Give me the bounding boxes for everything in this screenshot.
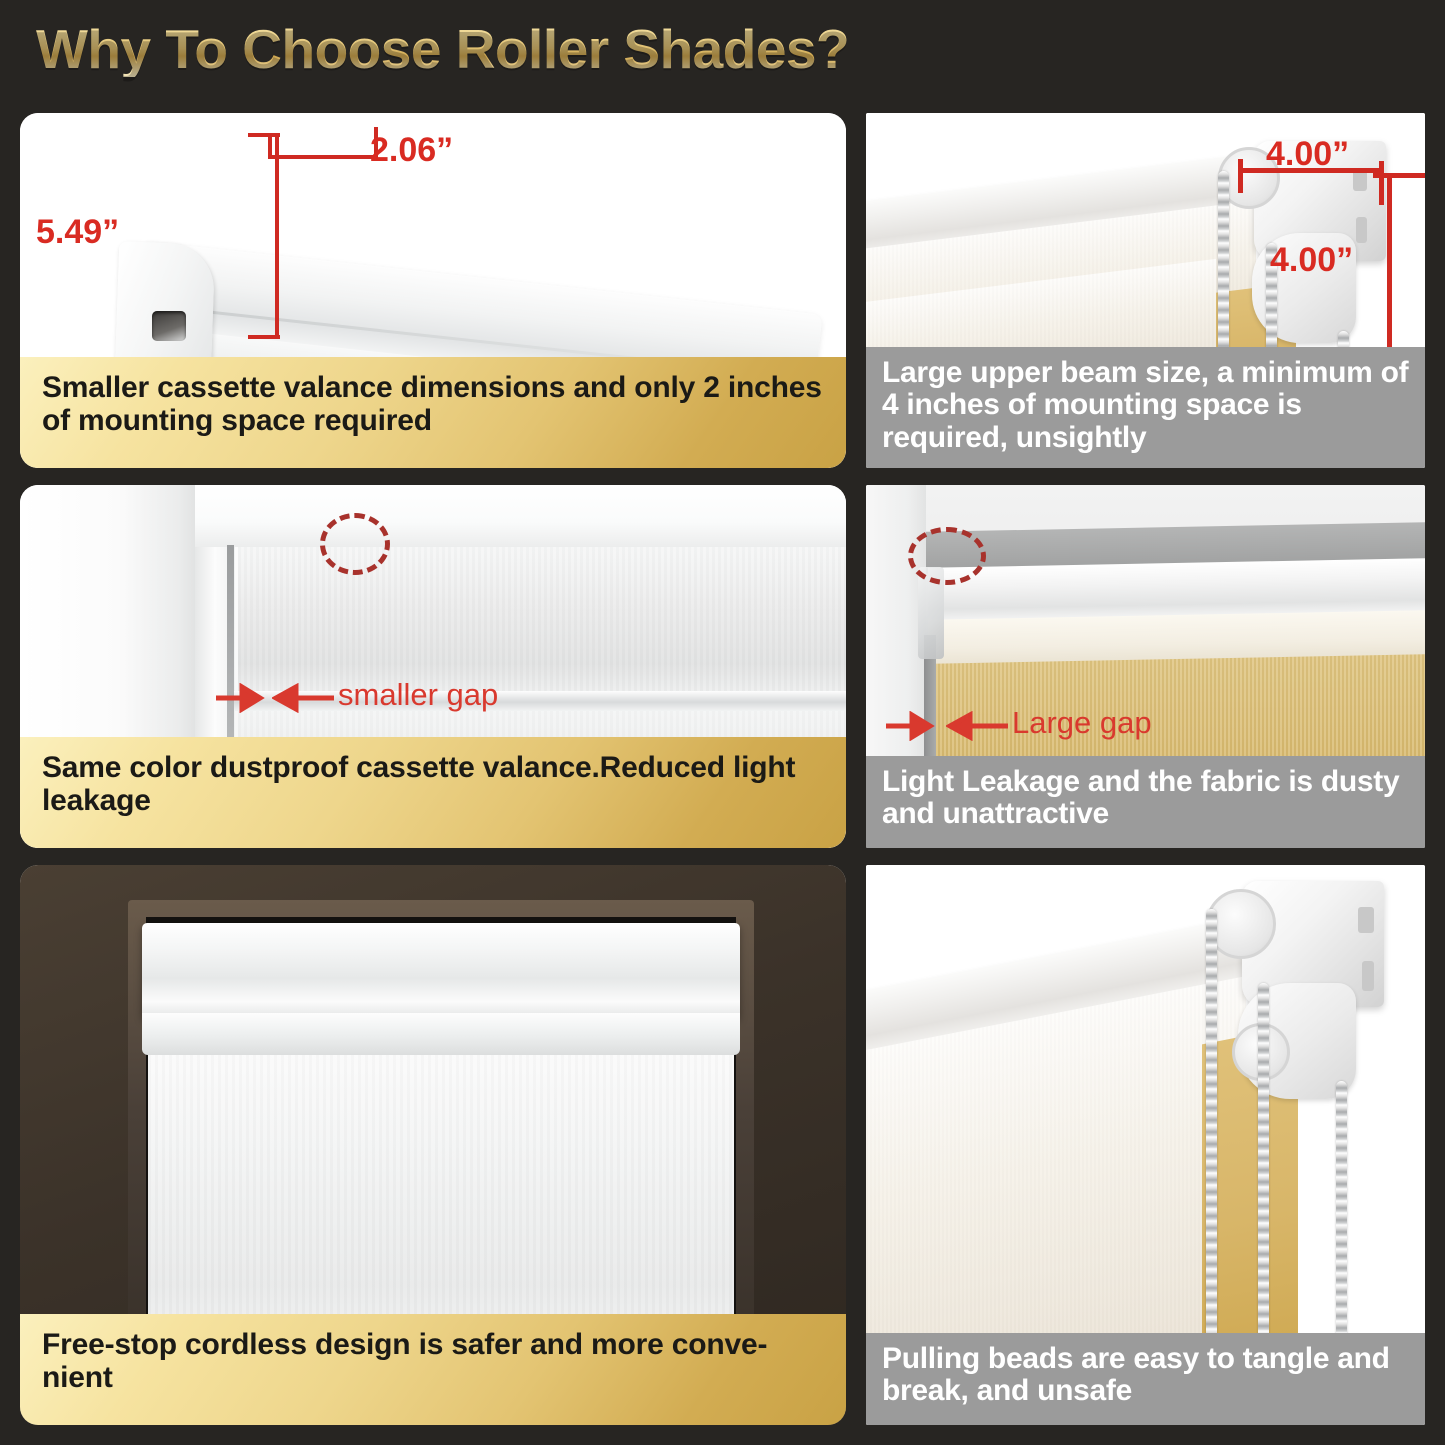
dimension-label-width: 2.06” bbox=[370, 131, 453, 170]
gap-arrow-left bbox=[216, 683, 268, 713]
comparison-row-1: 2.06” 5.49” Smaller cassette valance dim… bbox=[20, 113, 1425, 468]
panel-large-upper-beam[interactable]: 4.00” 4.00” Large upper beam size, a min… bbox=[866, 113, 1425, 468]
dimension-label-beam-width: 4.00” bbox=[1266, 135, 1349, 174]
panel-free-stop-cordless-design[interactable]: Free-stop cordless design is safer and m… bbox=[20, 865, 846, 1425]
dim-tick-beam-height-top bbox=[1373, 173, 1425, 178]
comparison-row-3: Free-stop cordless design is safer and m… bbox=[20, 865, 1425, 1425]
caption-bar-con-3: Pulling beads are easy to tangle and bre… bbox=[866, 1333, 1425, 1425]
caption-text: Pulling beads are easy to tangle and bre… bbox=[882, 1343, 1409, 1408]
caption-bar-con-2: Light Leakage and the fabric is dusty an… bbox=[866, 756, 1425, 848]
caption-text: Same color dustproof cassette valance.Re… bbox=[42, 751, 824, 818]
dim-tick-height-bottom bbox=[248, 335, 280, 339]
caption-bar-pro-1: Smaller cassette valance dimensions and … bbox=[20, 357, 846, 468]
gap-arrow-left bbox=[886, 711, 938, 741]
comparison-grid: 2.06” 5.49” Smaller cassette valance dim… bbox=[20, 113, 1425, 1425]
gap-arrow-right bbox=[946, 711, 1008, 741]
dim-line-width-horizontal bbox=[268, 155, 378, 159]
shade-valance-upper bbox=[238, 547, 846, 697]
panel-cassette-valance-dimensions[interactable]: 2.06” 5.49” Smaller cassette valance dim… bbox=[20, 113, 846, 468]
bracket-slot-mid bbox=[1356, 217, 1367, 243]
gap-highlight-circle bbox=[908, 527, 986, 585]
bracket-slot-mid bbox=[1362, 961, 1374, 991]
gap-label-large: Large gap bbox=[1012, 705, 1152, 741]
valance-slot bbox=[152, 311, 186, 341]
gap-arrow-right bbox=[272, 683, 334, 713]
dim-tick-height-top bbox=[248, 133, 280, 137]
comparison-row-2: smaller gap Same color dustproof cassett… bbox=[20, 485, 1425, 848]
caption-bar-pro-3: Free-stop cordless design is safer and m… bbox=[20, 1314, 846, 1425]
panel-pulling-beads-tangle[interactable]: Pulling beads are easy to tangle and bre… bbox=[866, 865, 1425, 1425]
caption-text: Free-stop cordless design is safer and m… bbox=[42, 1328, 824, 1395]
panel-light-leakage-dusty-fabric[interactable]: Large gap Light Leakage and the fabric i… bbox=[866, 485, 1425, 848]
cassette-valance bbox=[142, 923, 740, 1019]
window-head-moulding bbox=[195, 485, 846, 547]
gap-highlight-circle bbox=[320, 513, 390, 575]
dim-line-beam-height bbox=[1387, 173, 1392, 359]
cassette-valance-lip bbox=[142, 1013, 740, 1055]
gap-label-smaller: smaller gap bbox=[338, 677, 498, 713]
dimension-label-beam-height: 4.00” bbox=[1270, 241, 1353, 280]
caption-text: Large upper beam size, a minimum of 4 in… bbox=[882, 357, 1409, 454]
dim-line-height-vertical bbox=[275, 133, 279, 339]
dim-tick-beam-width-right bbox=[1379, 161, 1384, 205]
page-title: Why To Choose Roller Shades? bbox=[36, 22, 849, 77]
bracket-slot-top bbox=[1358, 907, 1374, 933]
dimension-label-height: 5.49” bbox=[36, 213, 119, 252]
caption-text: Smaller cassette valance dimensions and … bbox=[42, 371, 824, 438]
caption-bar-pro-2: Same color dustproof cassette valance.Re… bbox=[20, 737, 846, 848]
dim-tick-beam-width-left bbox=[1238, 159, 1243, 193]
caption-text: Light Leakage and the fabric is dusty an… bbox=[882, 766, 1409, 831]
panel-dustproof-cassette-valance[interactable]: smaller gap Same color dustproof cassett… bbox=[20, 485, 846, 848]
caption-bar-con-1: Large upper beam size, a minimum of 4 in… bbox=[866, 347, 1425, 468]
